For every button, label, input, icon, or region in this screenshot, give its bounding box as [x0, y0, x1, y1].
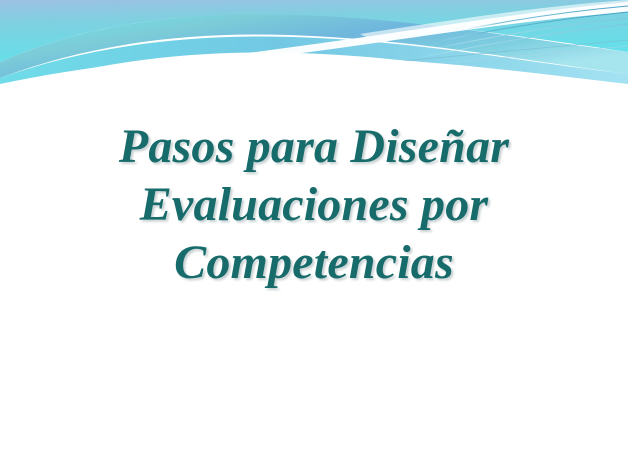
title-line-2: Evaluaciones por [22, 176, 606, 234]
title-slide: Pasos para Diseñar Evaluaciones por Comp… [0, 0, 628, 469]
title-line-1: Pasos para Diseñar [22, 118, 606, 176]
slide-title: Pasos para Diseñar Evaluaciones por Comp… [0, 118, 628, 292]
title-line-3: Competencias [22, 234, 606, 292]
wave-banner-decoration [0, 0, 628, 120]
